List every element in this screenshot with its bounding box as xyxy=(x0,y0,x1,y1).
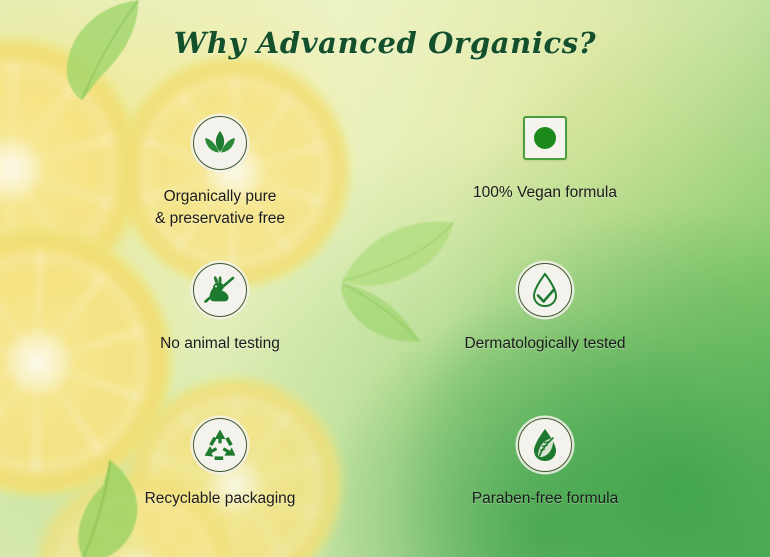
feature-label: Paraben-free formula xyxy=(472,488,618,510)
feature-label: No animal testing xyxy=(160,333,280,355)
droplet-leaf-icon xyxy=(518,418,572,472)
feature-label: Recyclable packaging xyxy=(145,488,296,510)
feature-grid: Organically pure & preservative free 100… xyxy=(0,0,770,557)
feature-organically-pure: Organically pure & preservative free xyxy=(95,116,345,230)
droplet-check-icon xyxy=(518,263,572,317)
feature-no-animal-testing: No animal testing xyxy=(95,263,345,355)
feature-recyclable-packaging: Recyclable packaging xyxy=(95,418,345,510)
feature-label: Dermatologically tested xyxy=(464,333,625,355)
feature-label: 100% Vegan formula xyxy=(473,182,617,204)
recycle-icon xyxy=(193,418,247,472)
product-benefits-banner: Why Advanced Organics? Organically pure … xyxy=(0,0,770,557)
feature-vegan-formula: 100% Vegan formula xyxy=(420,116,670,204)
rabbit-no-testing-icon xyxy=(193,263,247,317)
feature-paraben-free: Paraben-free formula xyxy=(420,418,670,510)
feature-label: Organically pure & preservative free xyxy=(155,186,285,230)
three-leaves-icon xyxy=(193,116,247,170)
vegan-mark-icon xyxy=(523,116,567,160)
feature-dermatologically-tested: Dermatologically tested xyxy=(420,263,670,355)
